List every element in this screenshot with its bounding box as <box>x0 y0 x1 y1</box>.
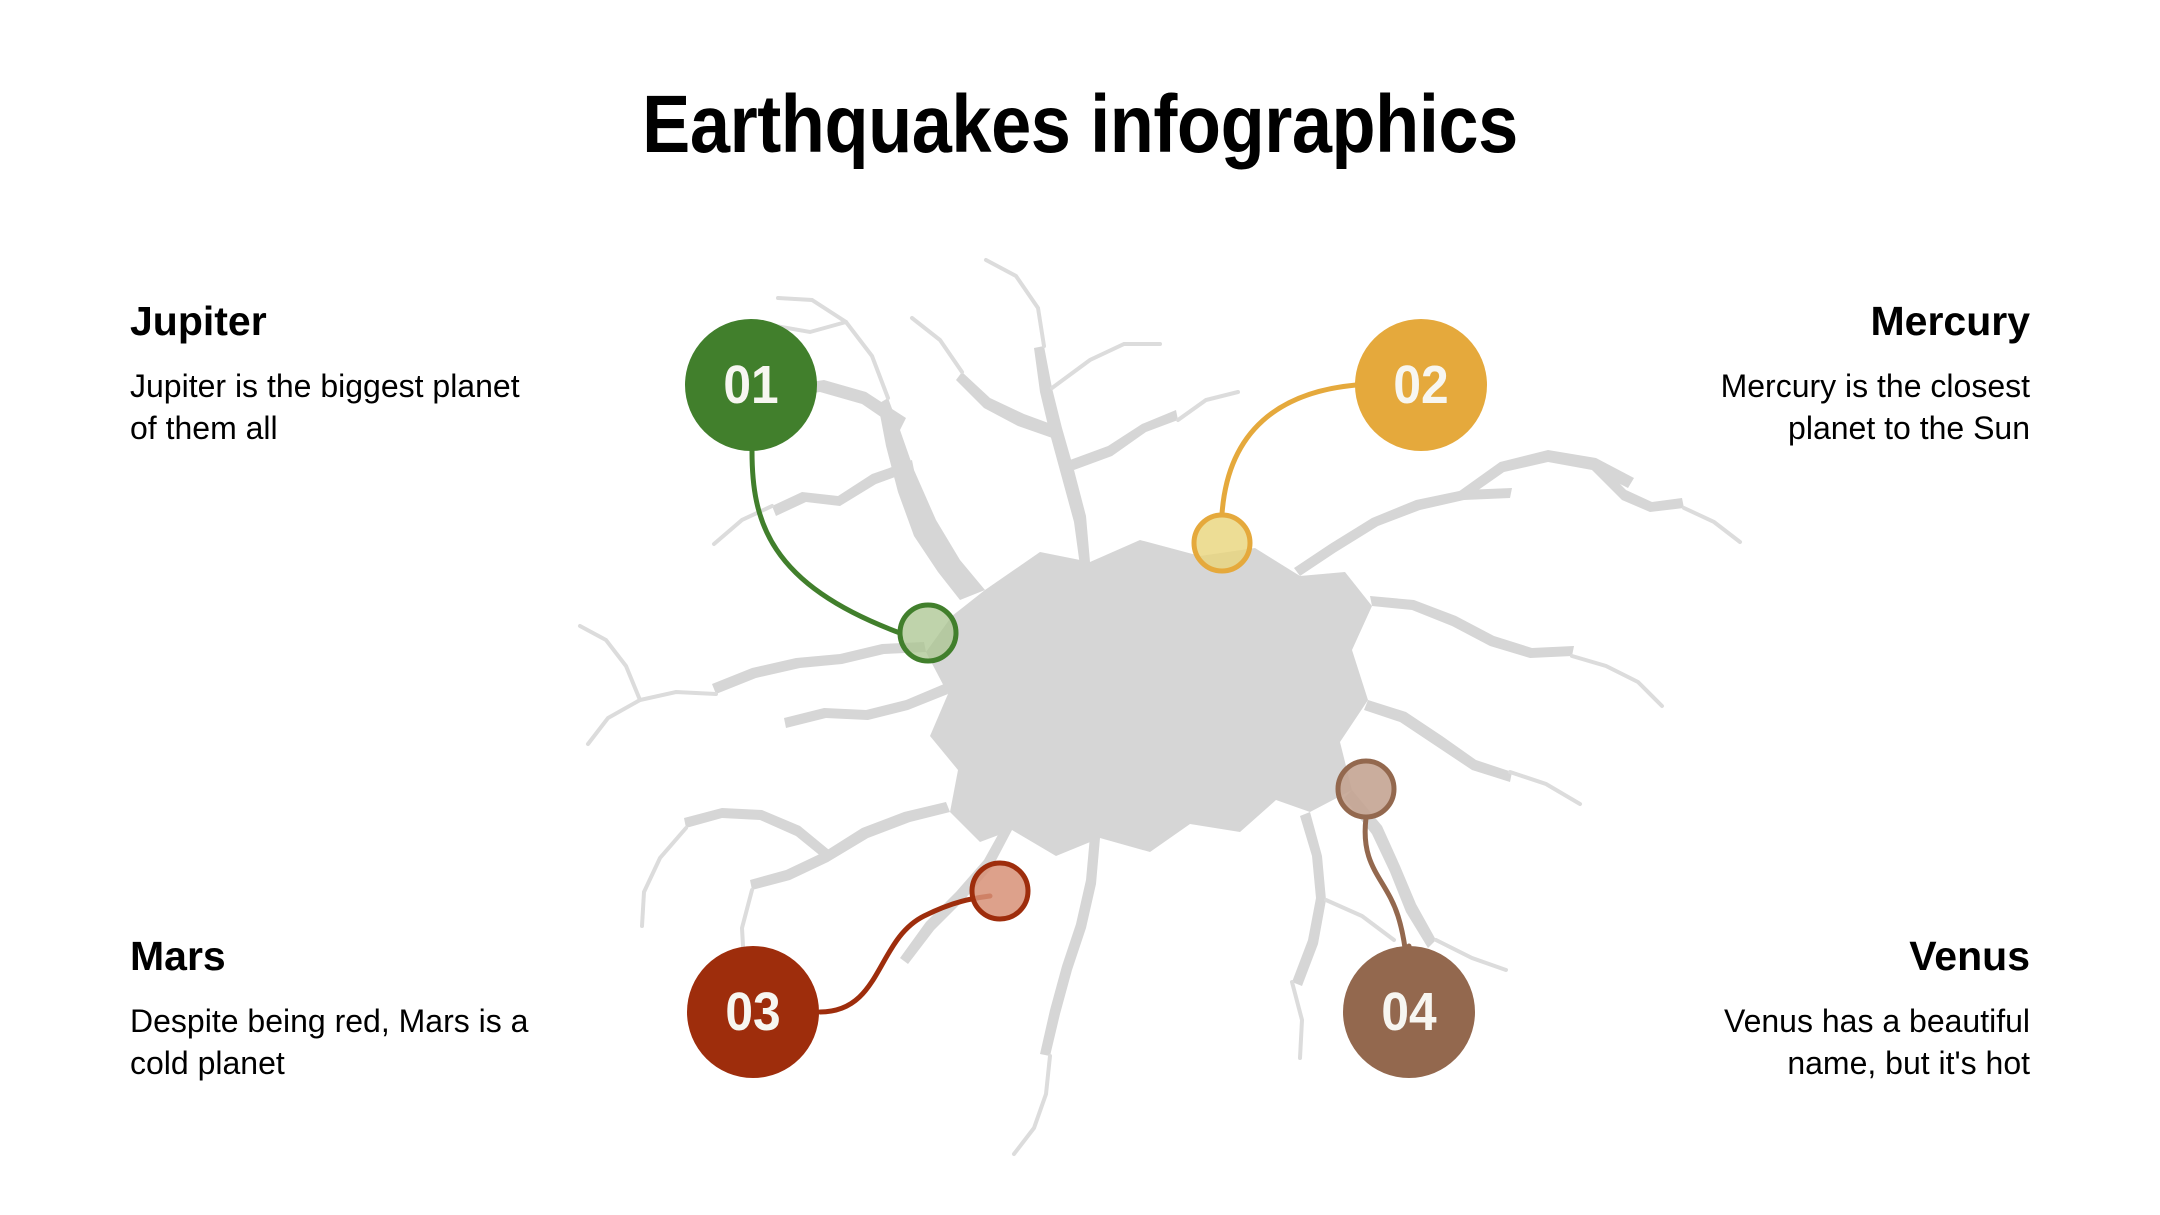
bubble-number-label: 04 <box>1381 981 1436 1043</box>
connector-line-02 <box>1222 385 1356 514</box>
bubble-number-label: 02 <box>1393 354 1448 416</box>
info-body-mercury: Mercury is the closest planet to the Sun <box>1630 365 2030 449</box>
info-title-mars: Mars <box>130 935 530 978</box>
info-body-jupiter: Jupiter is the biggest planet of them al… <box>130 365 530 449</box>
crack-arm-bottom2 <box>900 824 1012 964</box>
crack-arm-top <box>1034 346 1090 566</box>
number-bubble-02[interactable]: 02 <box>1355 319 1487 451</box>
crack-arm-bottom <box>1040 836 1100 1056</box>
crack-arm-right <box>1370 596 1574 658</box>
crack-texture <box>684 346 1684 1056</box>
page-title: Earthquakes infographics <box>130 84 2031 166</box>
crack-arm-left <box>712 642 926 694</box>
marker-04 <box>1338 761 1394 817</box>
info-block-mercury: Mercury Mercury is the closest planet to… <box>1630 300 2030 450</box>
info-title-venus: Venus <box>1630 935 2030 978</box>
info-block-venus: Venus Venus has a beautiful name, but it… <box>1630 935 2030 1085</box>
info-body-mars: Despite being red, Mars is a cold planet <box>130 1000 530 1084</box>
info-block-jupiter: Jupiter Jupiter is the biggest planet of… <box>130 300 530 450</box>
slide-canvas: Earthquakes infographics <box>0 0 2160 1215</box>
crack-arm-lr2 <box>1292 812 1326 986</box>
crack-branch-tr3 <box>1592 462 1684 512</box>
bubble-number-label: 03 <box>725 981 780 1043</box>
crack-arm-lr <box>1344 790 1436 948</box>
crack-arm-ul <box>878 398 985 600</box>
crack-branch-tr2 <box>1458 450 1634 500</box>
crack-branch-ll2 <box>684 808 834 862</box>
crack-branch-ul3 <box>772 460 914 516</box>
crack-arm-right2 <box>1364 700 1512 782</box>
crack-arm-tr <box>1294 488 1512 576</box>
connector-line-04 <box>1365 818 1409 954</box>
bubble-number-label: 01 <box>723 354 778 416</box>
crack-arm-left2 <box>784 684 948 728</box>
crack-branch-top2 <box>956 372 1062 440</box>
connector-line-01 <box>752 451 900 633</box>
marker-02 <box>1194 515 1250 571</box>
crack-core <box>926 540 1372 856</box>
number-bubble-03[interactable]: 03 <box>687 946 819 1078</box>
marker-03 <box>972 863 1028 919</box>
connector-line-03 <box>820 896 990 1012</box>
info-title-jupiter: Jupiter <box>130 300 530 343</box>
crack-branch-top3 <box>1070 410 1178 470</box>
info-body-venus: Venus has a beautiful name, but it's hot <box>1630 1000 2030 1084</box>
number-bubble-04[interactable]: 04 <box>1343 946 1475 1078</box>
marker-01 <box>900 605 956 661</box>
info-title-mercury: Mercury <box>1630 300 2030 343</box>
info-block-mars: Mars Despite being red, Mars is a cold p… <box>130 935 530 1085</box>
crack-arm-ll <box>750 802 950 890</box>
number-bubble-01[interactable]: 01 <box>685 319 817 451</box>
